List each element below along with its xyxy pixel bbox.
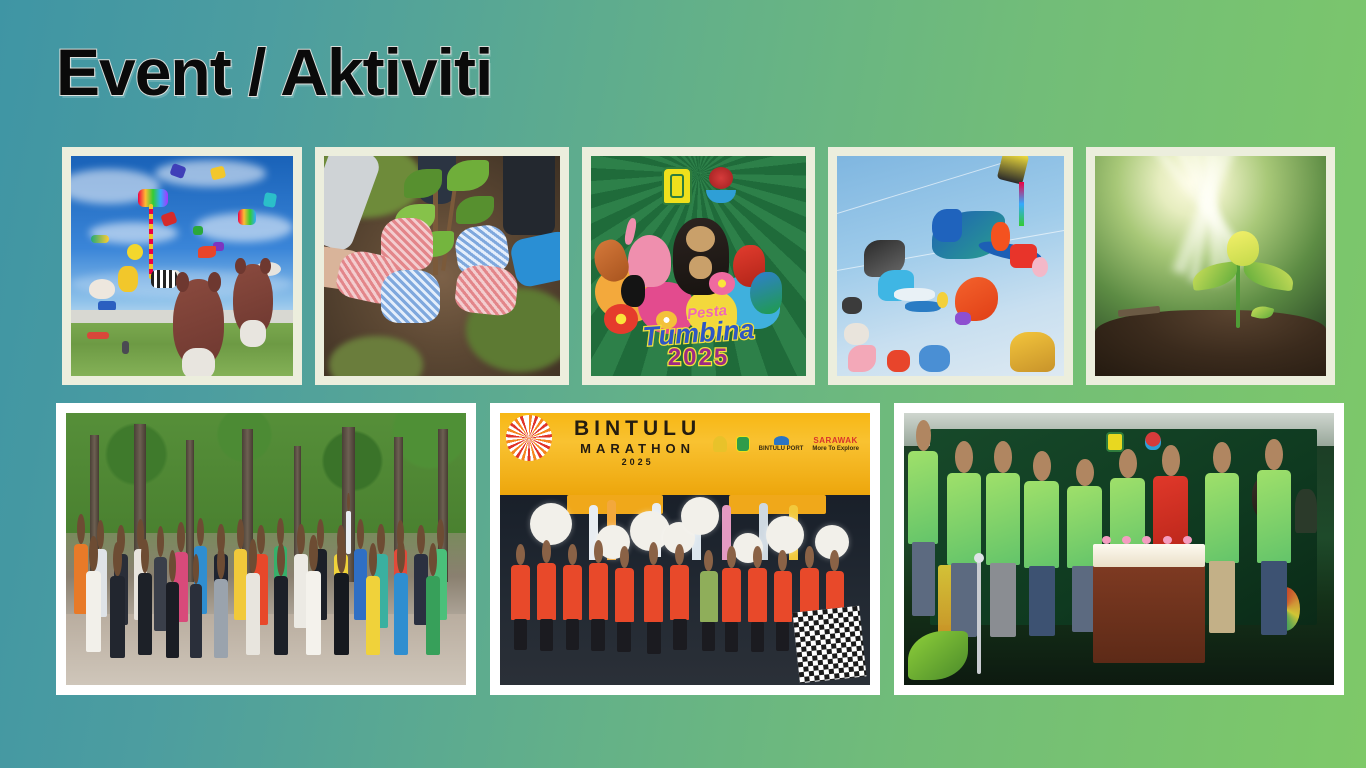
photo-tile-cake-cutting[interactable] — [894, 403, 1344, 695]
photo-tile-pesta-tumbina-poster[interactable]: Pesta Tumbina 2025 — [582, 147, 815, 385]
poster-pesta-tumbina-2025: Pesta Tumbina 2025 — [591, 156, 806, 376]
photo-tile-tree-planting[interactable] — [315, 147, 569, 385]
marathon-arch-banner: BINTULU MARATHON 2025 BINTULU PORT SARAW… — [500, 413, 870, 495]
bintulu-council-crest-icon — [662, 167, 692, 205]
photo-tile-kite-festival[interactable] — [62, 147, 302, 385]
sarawak-label: SARAWAK — [813, 436, 857, 445]
photo-tree-planting — [324, 156, 560, 376]
photo-tile-seedling[interactable] — [1086, 147, 1335, 385]
hornbill-icon — [713, 436, 727, 452]
photo-tile-kites-sky[interactable] — [828, 147, 1073, 385]
marathon-sponsor-logos: BINTULU PORT SARAWAK More To Explore — [713, 436, 859, 452]
photo-seedling-soil — [1095, 156, 1326, 376]
gallery-top-row: Pesta Tumbina 2025 — [62, 147, 1336, 385]
marathon-title-line2: MARATHON — [574, 442, 701, 455]
bintulu-port-label: BINTULU PORT — [759, 446, 804, 452]
photo-kites-sky — [837, 156, 1064, 376]
checkered-flag-icon — [793, 606, 867, 683]
bintulu-council-crest-icon — [736, 436, 750, 452]
marathon-sunburst-icon — [506, 415, 552, 461]
bintulu-port-logo: BINTULU PORT — [759, 436, 804, 452]
marathon-title-line1: BINTULU — [574, 418, 701, 439]
ceremony-cake-table — [1093, 565, 1205, 663]
photo-bintulu-marathon-2025: BINTULU MARATHON 2025 BINTULU PORT SARAW… — [500, 413, 870, 685]
page-title: Event / Aktiviti — [56, 38, 492, 107]
sarawak-emblem-icon — [706, 167, 736, 205]
photo-tile-bintulu-marathon[interactable]: BINTULU MARATHON 2025 BINTULU PORT SARAW… — [490, 403, 880, 695]
photo-community-run-crowd — [66, 413, 466, 685]
photo-kite-festival-field — [71, 156, 293, 376]
marathon-title-year: 2025 — [574, 458, 701, 467]
photo-tile-community-run[interactable] — [56, 403, 476, 695]
sarawak-more-to-explore-logo: SARAWAK More To Explore — [812, 436, 859, 452]
poster-title-block: Pesta Tumbina 2025 — [591, 304, 806, 372]
bintulu-council-crest-icon — [1106, 432, 1124, 452]
gallery-bottom-row: BINTULU MARATHON 2025 BINTULU PORT SARAW… — [56, 403, 1340, 695]
poster-logo-row — [662, 167, 736, 205]
marathon-arch-text: BINTULU MARATHON 2025 — [574, 418, 701, 467]
sarawak-emblem-icon — [1145, 432, 1161, 450]
sarawak-tagline: More To Explore — [812, 446, 859, 452]
photo-cake-cutting-ceremony — [904, 413, 1334, 685]
bintulu-port-mark-icon — [774, 436, 789, 445]
